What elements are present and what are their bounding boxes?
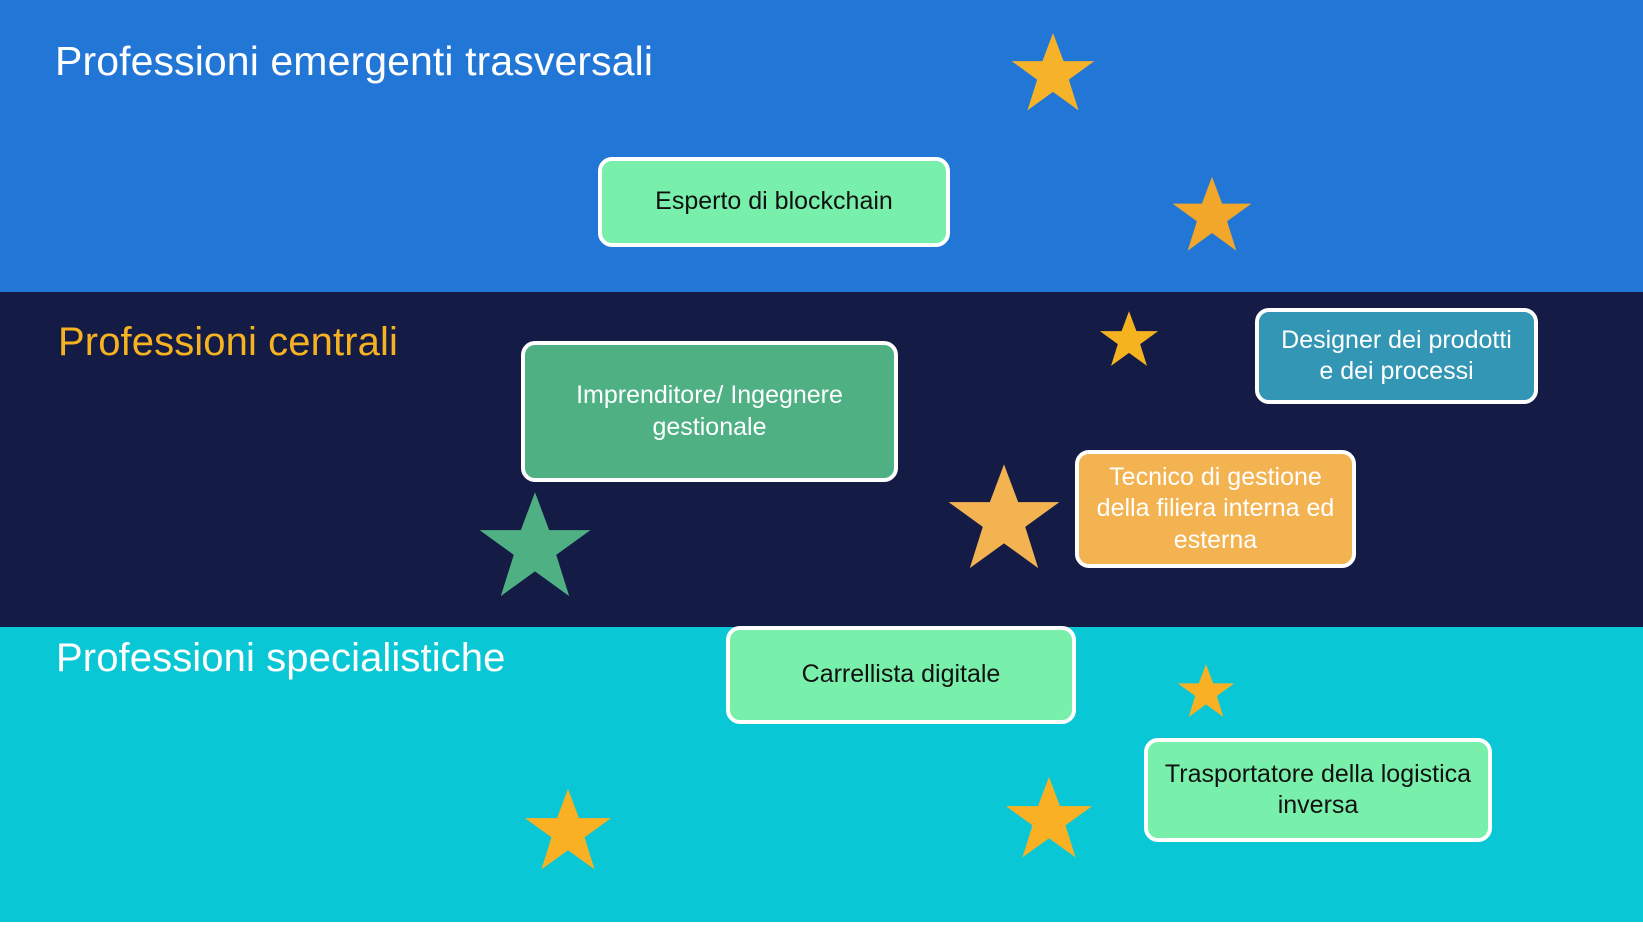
star-icon	[522, 787, 614, 874]
band-title-professioni-centrali: Professioni centrali	[58, 320, 398, 365]
star-icon	[1170, 175, 1254, 255]
profession-card-label: Carrellista digitale	[742, 659, 1060, 691]
profession-card-carrellista-digitale[interactable]: Carrellista digitale	[726, 626, 1076, 724]
band-title-professioni-emergenti: Professioni emergenti trasversali	[55, 38, 653, 85]
profession-card-designer-dei-prodotti-e-dei-processi[interactable]: Designer dei prodotti e dei processi	[1255, 308, 1538, 404]
profession-card-imprenditore-ingegnere-gestionale[interactable]: Imprenditore/ Ingegnere gestionale	[521, 341, 898, 482]
profession-card-tecnico-di-gestione-filiera[interactable]: Tecnico di gestione della filiera intern…	[1075, 450, 1356, 568]
diagram-canvas: Professioni emergenti trasversali Profes…	[0, 0, 1643, 944]
profession-card-label: Esperto di blockchain	[614, 186, 934, 218]
profession-card-label: Designer dei prodotti e dei processi	[1271, 325, 1522, 388]
profession-card-label: Trasportatore della logistica inversa	[1160, 759, 1476, 822]
profession-card-trasportatore-logistica-inversa[interactable]: Trasportatore della logistica inversa	[1144, 738, 1492, 842]
star-icon	[476, 490, 594, 602]
profession-card-esperto-di-blockchain[interactable]: Esperto di blockchain	[598, 157, 950, 247]
star-icon	[1003, 775, 1095, 862]
band-title-professioni-specialistiche: Professioni specialistiche	[56, 636, 505, 681]
profession-card-label: Imprenditore/ Ingegnere gestionale	[537, 380, 882, 443]
profession-card-label: Tecnico di gestione della filiera intern…	[1091, 462, 1340, 557]
star-icon	[1098, 310, 1160, 369]
star-icon	[1009, 31, 1097, 115]
star-icon	[1176, 663, 1236, 720]
star-icon	[945, 462, 1063, 574]
